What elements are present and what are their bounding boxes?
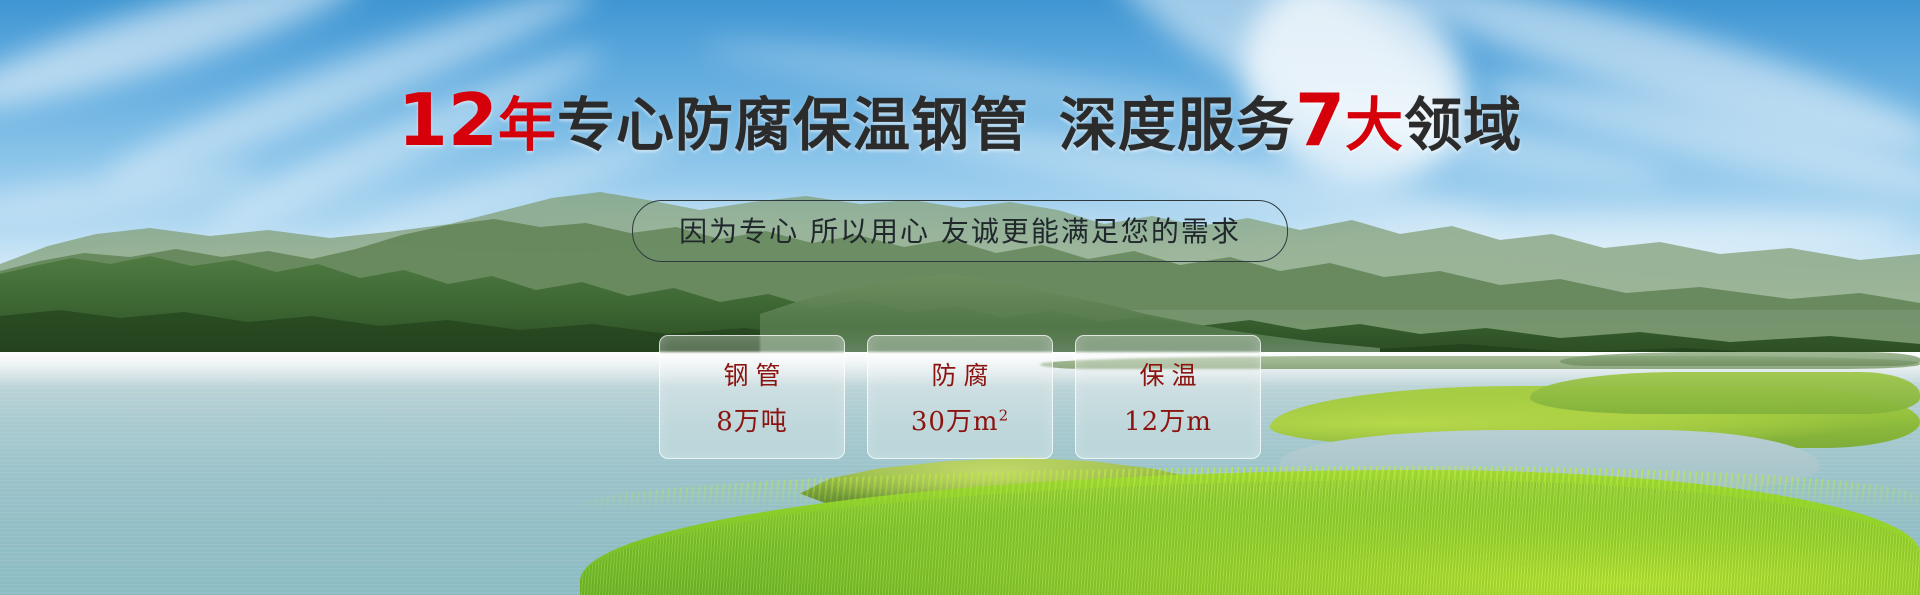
headline: 12年专心防腐保温钢管深度服务7大领域 xyxy=(0,88,1920,157)
stat-card-value-main: 8万吨 xyxy=(716,407,788,437)
headline-segment-focus: 专心防腐保温钢管 xyxy=(557,91,1029,159)
stat-card-title: 防腐 xyxy=(924,356,995,392)
headline-fields-unit: 大 xyxy=(1345,91,1404,159)
headline-years-unit: 年 xyxy=(498,91,557,159)
stat-card-value: 8万吨 xyxy=(716,401,788,438)
stat-card-value-superscript: 2 xyxy=(999,406,1010,424)
stat-card-value-main: 30万m xyxy=(911,407,999,437)
headline-years-number: 12 xyxy=(398,78,498,162)
subtitle-container: 因为专心 所以用心 友诚更能满足您的需求 xyxy=(0,200,1920,262)
headline-fields-number: 7 xyxy=(1295,78,1345,162)
promo-banner: 12年专心防腐保温钢管深度服务7大领域 因为专心 所以用心 友诚更能满足您的需求… xyxy=(0,0,1920,595)
stat-card-title: 保温 xyxy=(1132,356,1203,392)
stat-card-group: 钢管 8万吨 防腐 30万m2 保温 12万m xyxy=(0,335,1920,459)
headline-segment-service: 深度服务 xyxy=(1059,91,1295,159)
subtitle-pill: 因为专心 所以用心 友诚更能满足您的需求 xyxy=(632,200,1288,262)
stat-card-anticorrosion[interactable]: 防腐 30万m2 xyxy=(867,335,1053,459)
stat-card-value: 12万m xyxy=(1124,401,1212,438)
stat-card-value: 30万m2 xyxy=(911,401,1009,438)
sky-background xyxy=(0,0,1920,360)
stat-card-steel-pipe[interactable]: 钢管 8万吨 xyxy=(659,335,845,459)
stat-card-title: 钢管 xyxy=(716,356,787,392)
headline-segment-fields: 领域 xyxy=(1404,91,1522,159)
stat-card-insulation[interactable]: 保温 12万m xyxy=(1075,335,1261,459)
stat-card-value-main: 12万m xyxy=(1124,407,1212,437)
